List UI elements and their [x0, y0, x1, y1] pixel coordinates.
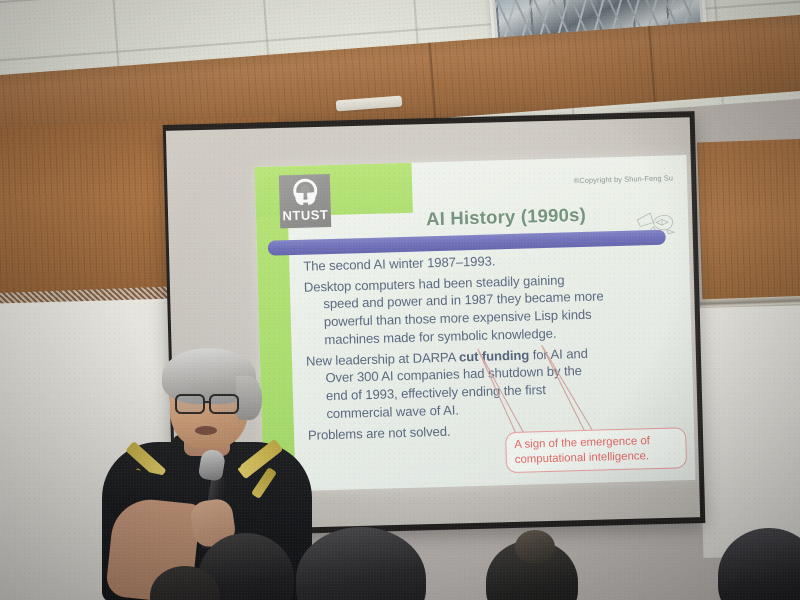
whiteboard-right	[697, 304, 800, 558]
lecture-hall-photo: NTUST ®Copyright by Shun-Feng Su AI Hist…	[0, 0, 800, 600]
bullet-3-line-1-post: for AI and	[529, 346, 588, 363]
slide-body: The second AI winter 1987–1993. Desktop …	[303, 247, 680, 447]
bullet-3: New leadership at DARPA cut funding for …	[306, 342, 680, 423]
wood-wall-panel-right	[697, 138, 800, 318]
eyeglasses-bridge	[204, 401, 211, 403]
audience-member-3-bun	[515, 530, 555, 564]
bullet-3-emphasis: cut funding	[459, 347, 530, 364]
ntust-logo-label: NTUST	[282, 208, 328, 222]
slide-title: AI History (1990s)	[381, 203, 632, 232]
ntust-emblem-icon	[289, 177, 320, 208]
callout-box: A sign of the emergence of computational…	[505, 427, 687, 473]
bullet-4-line-1: Problems are not solved.	[308, 423, 451, 442]
copyright-notice: ®Copyright by Shun-Feng Su	[574, 173, 673, 185]
ntust-logo: NTUST	[279, 174, 331, 228]
bullet-1-line-1: The second AI winter 1987–1993.	[303, 253, 495, 273]
eyeglasses-lens-left	[175, 394, 205, 414]
presenter-mouth	[195, 426, 217, 435]
eyeglasses-lens-right	[209, 394, 239, 414]
presenter-hair-side	[236, 376, 262, 420]
bullet-2: Desktop computers had been steadily gain…	[304, 268, 678, 349]
